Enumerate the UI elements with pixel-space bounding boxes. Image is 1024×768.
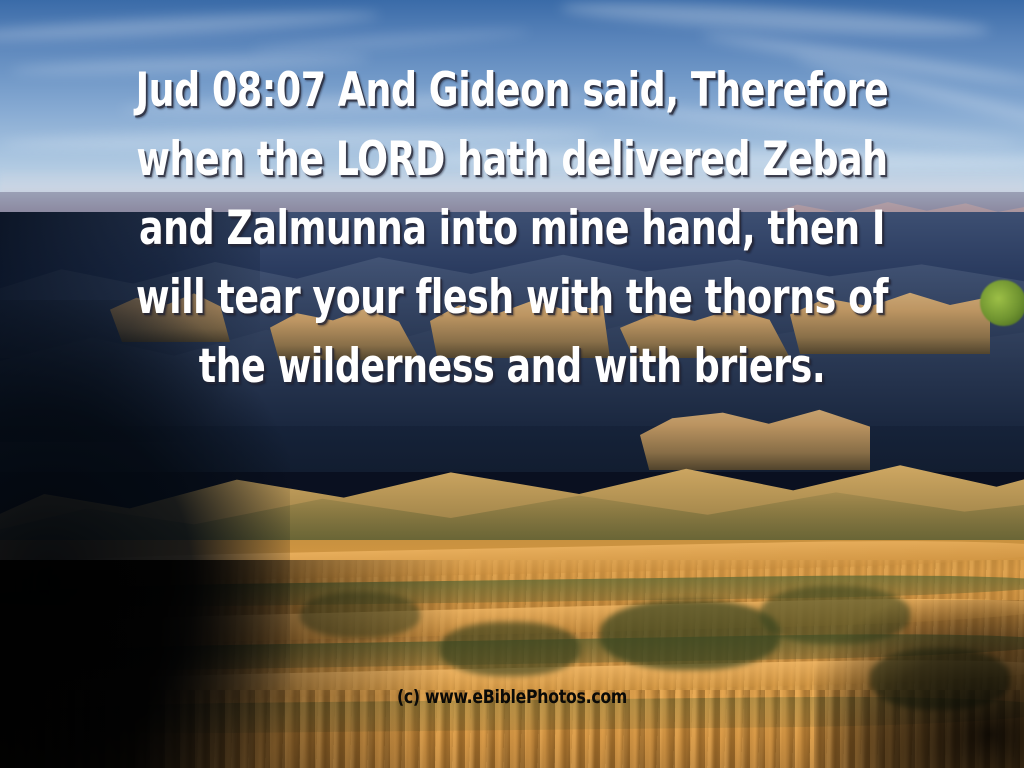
cloud-streak [0,7,380,45]
cloud-streak [120,90,590,117]
cloud-streak [701,28,1024,89]
tree-foliage [980,280,1024,326]
vegetation-clump [600,600,780,670]
cloud-streak [0,125,600,153]
deep-shadow-right [814,600,1024,768]
cloud-streak [560,0,991,41]
deep-shadow-foreground-left [0,560,500,768]
verse-image-canvas: Jud 08:07 And Gideon said, Therefore whe… [0,0,1024,768]
copyright-watermark: (c) www.eBiblePhotos.com [41,686,983,708]
cloud-streak [10,52,370,78]
cloud-streak [600,100,1020,151]
cloud-streak [250,26,530,56]
